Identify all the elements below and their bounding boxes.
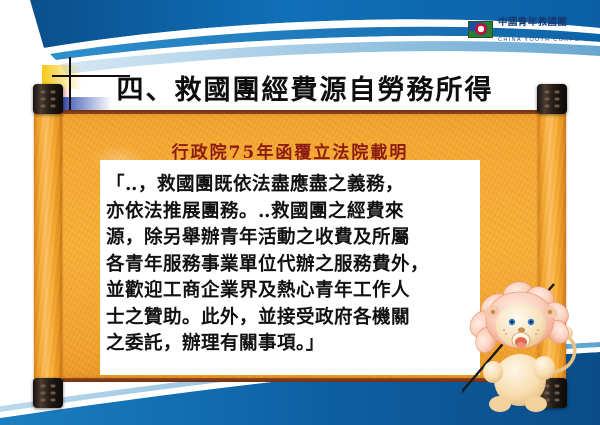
slide-canvas: 中國青年救國團 CHINA YOUTH CORPS 四、救國團經費源自勞務所得: [0, 0, 600, 425]
quote-line: 「‥，救國團既依法盡應盡之義務，: [106, 172, 474, 199]
scroll-cap-top-left: [33, 84, 63, 114]
scroll-roller-left: [34, 104, 62, 388]
quote-line: 源，除另舉辦青年活動之收費及所屬: [106, 225, 474, 252]
logo-name-en: CHINA YOUTH CORPS: [498, 37, 580, 43]
page-title: 四、救國團經費源自勞務所得: [95, 68, 515, 107]
quote-line: 並歡迎工商企業界及熱心青年工作人: [106, 278, 474, 305]
roc-flag-icon: [468, 21, 493, 38]
quote-line: 各青年服務事業單位代辦之服務費外，: [106, 252, 474, 279]
scroll-top-edge: [48, 110, 552, 114]
quote-line: 士之贊助。此外，並接受政府各機關: [106, 305, 474, 332]
scroll-subtitle: 行政院75年函覆立法院載明: [100, 138, 480, 163]
quote-line: 之委託，辦理有關事項。」: [106, 331, 474, 358]
organization-logo: 中國青年救國團 CHINA YOUTH CORPS: [468, 13, 600, 45]
quote-line: 亦依法推展團務。‥救國團之經費來: [106, 199, 474, 226]
scroll-cap-bottom-left: [33, 378, 63, 408]
scroll-cap-top-right: [537, 84, 567, 114]
quote-text-panel: 「‥，救國團既依法盡應盡之義務， 亦依法推展團務。‥救國團之經費來 源，除另舉辦…: [100, 160, 480, 375]
logo-name-cn: 中國青年救國團: [498, 17, 567, 28]
lion-mascot-icon: [462, 276, 586, 416]
